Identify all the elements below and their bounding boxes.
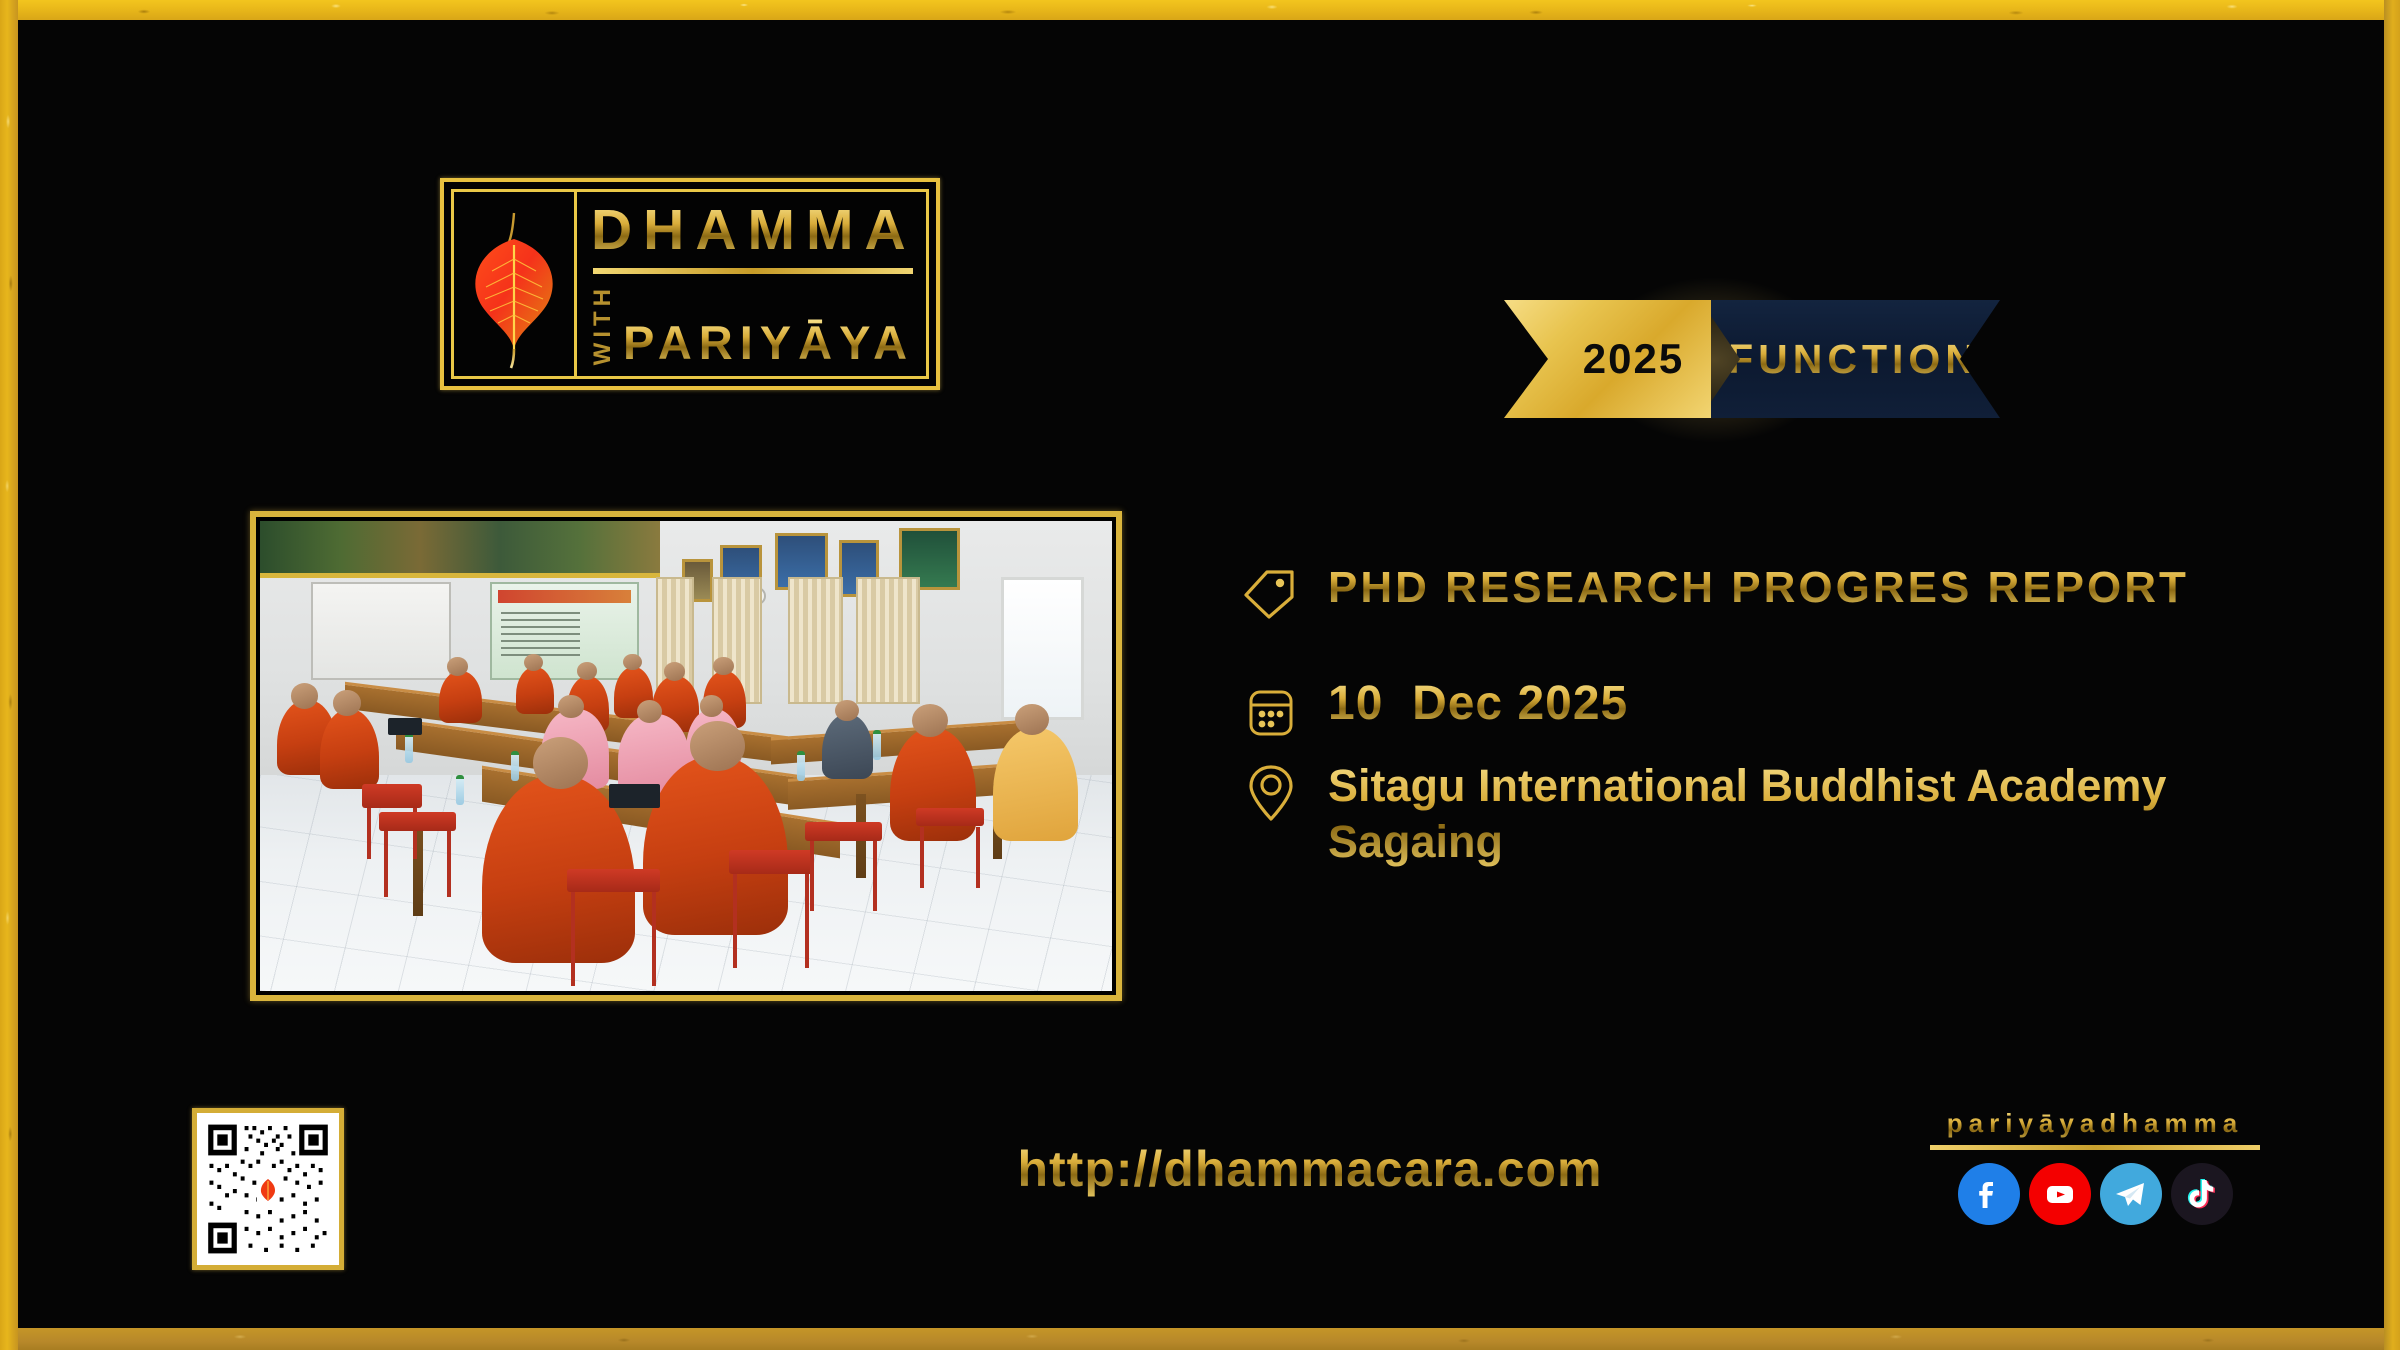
logo-divider-rule — [593, 268, 913, 274]
event-date-row: 10 Dec 2025 — [1240, 680, 2300, 740]
logo-bottom-row: WITH PARIYĀYA — [591, 284, 917, 365]
event-date: 10 Dec 2025 — [1328, 680, 1628, 728]
telegram-icon[interactable] — [2100, 1163, 2162, 1225]
tiktok-icon[interactable] — [2171, 1163, 2233, 1225]
frame-border-bottom — [0, 1328, 2400, 1350]
tag-icon — [1240, 560, 1302, 620]
event-photo — [260, 521, 1112, 991]
ribbon-function-panel: FUNCTION — [1700, 300, 2000, 418]
frame-border-right — [2384, 0, 2400, 1350]
calendar-icon — [1240, 680, 1302, 740]
social-block: pariyāyadhamma — [1930, 1108, 2260, 1225]
event-poster: DHAMMA WITH PARIYĀYA FUNCTION 2025 — [0, 0, 2400, 1350]
event-title-row: PHD RESEARCH PROGRES REPORT — [1240, 560, 2300, 620]
social-divider-rule — [1930, 1145, 2260, 1150]
frame-border-left — [0, 0, 18, 1350]
logo-inner-border: DHAMMA WITH PARIYĀYA — [451, 189, 929, 379]
qr-code-pattern — [203, 1119, 333, 1259]
location-pin-icon — [1240, 758, 1302, 824]
facebook-icon[interactable] — [1958, 1163, 2020, 1225]
qr-code[interactable] — [192, 1108, 344, 1270]
year-function-ribbon: FUNCTION 2025 — [1504, 300, 2000, 418]
bodhi-leaf-icon — [454, 192, 577, 376]
social-handle: pariyāyadhamma — [1930, 1108, 2260, 1145]
ribbon-year-label: 2025 — [1583, 335, 1684, 383]
logo-with-text: WITH — [591, 284, 615, 365]
logo-dhamma-text: DHAMMA — [591, 202, 917, 259]
frame-border-top — [0, 0, 2400, 20]
ribbon-function-label: FUNCTION — [1728, 336, 1980, 383]
social-icons — [1930, 1163, 2260, 1225]
brand-logo: DHAMMA WITH PARIYĀYA — [440, 178, 940, 390]
event-details: PHD RESEARCH PROGRES REPORT 10 Dec 2025 — [1240, 560, 2300, 871]
logo-pariyaya-text: PARIYĀYA — [623, 319, 914, 366]
ribbon-year-panel: 2025 — [1504, 300, 1711, 418]
event-title: PHD RESEARCH PROGRES REPORT — [1328, 560, 2189, 610]
youtube-icon[interactable] — [2029, 1163, 2091, 1225]
logo-wordmark: DHAMMA WITH PARIYĀYA — [577, 192, 927, 376]
event-venue-row: Sitagu International Buddhist Academy Sa… — [1240, 758, 2300, 871]
event-venue: Sitagu International Buddhist Academy Sa… — [1328, 758, 2238, 871]
website-url[interactable]: http://dhammacara.com — [990, 1140, 1630, 1198]
qr-center-leaf-icon — [257, 1176, 279, 1202]
event-photo-frame — [250, 511, 1122, 1001]
